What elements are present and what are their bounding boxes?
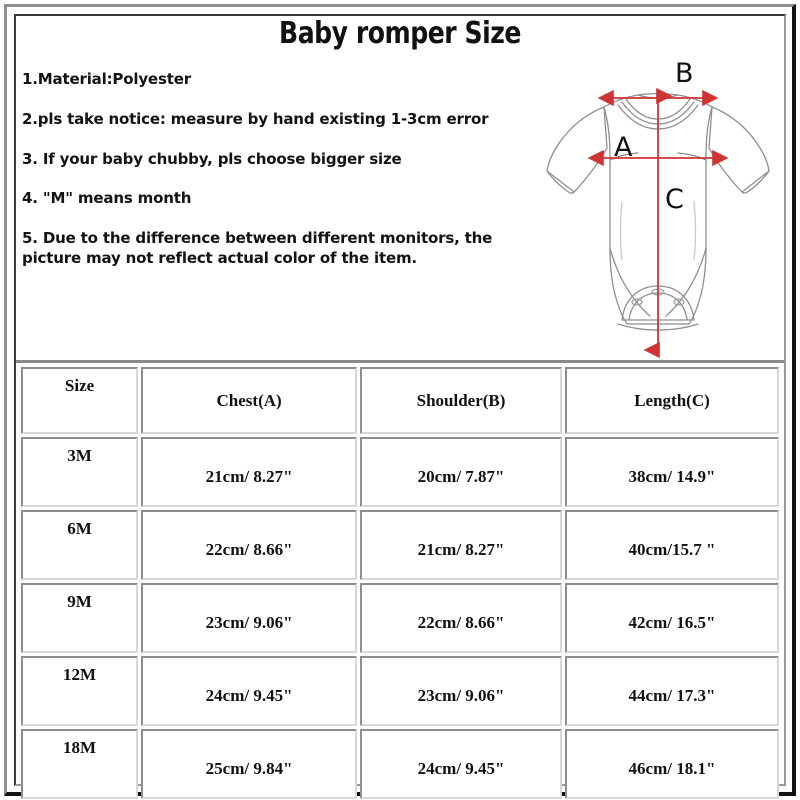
page-title: Baby romper Size	[28, 16, 772, 51]
cell-shoulder: 20cm/ 7.87"	[360, 437, 562, 507]
header-size: Size	[21, 367, 138, 434]
note-item-2: 2.pls take notice: measure by hand exist…	[22, 110, 507, 130]
cell-size: 9M	[21, 583, 138, 653]
header-chest: Chest(A)	[141, 367, 357, 434]
dimension-label-b: B	[675, 58, 694, 89]
note-item-3: 3. If your baby chubby, pls choose bigge…	[22, 150, 507, 170]
cell-chest: 22cm/ 8.66"	[141, 510, 357, 580]
cell-shoulder: 22cm/ 8.66"	[360, 583, 562, 653]
table-row: 12M 24cm/ 9.45" 23cm/ 9.06" 44cm/ 17.3"	[21, 656, 779, 726]
dimension-label-a: A	[614, 132, 632, 163]
table-row: 3M 21cm/ 8.27" 20cm/ 7.87" 38cm/ 14.9"	[21, 437, 779, 507]
cell-chest: 23cm/ 9.06"	[141, 583, 357, 653]
cell-shoulder: 23cm/ 9.06"	[360, 656, 562, 726]
table-header-row: Size Chest(A) Shoulder(B) Length(C)	[21, 367, 779, 434]
cell-shoulder: 21cm/ 8.27"	[360, 510, 562, 580]
cell-length: 42cm/ 16.5"	[565, 583, 779, 653]
dimension-label-c: C	[665, 184, 684, 215]
cell-shoulder: 24cm/ 9.45"	[360, 729, 562, 799]
cell-length: 46cm/ 18.1"	[565, 729, 779, 799]
cell-chest: 25cm/ 9.84"	[141, 729, 357, 799]
cell-size: 12M	[21, 656, 138, 726]
cell-chest: 21cm/ 8.27"	[141, 437, 357, 507]
table-row: 18M 25cm/ 9.84" 24cm/ 9.45" 46cm/ 18.1"	[21, 729, 779, 799]
left-leg-edge	[610, 248, 650, 316]
note-item-1: 1.Material:Polyester	[22, 70, 507, 90]
table-row: 9M 23cm/ 9.06" 22cm/ 8.66" 42cm/ 16.5"	[21, 583, 779, 653]
cell-length: 38cm/ 14.9"	[565, 437, 779, 507]
romper-diagram: A B C	[534, 52, 782, 360]
right-armhole-seam	[678, 153, 706, 160]
romper-illustration-svg	[534, 52, 782, 360]
left-sleeve	[547, 107, 607, 192]
left-body-fold	[621, 202, 623, 260]
table-top-divider	[16, 360, 784, 363]
table-row: 6M 22cm/ 8.66" 21cm/ 8.27" 40cm/15.7 "	[21, 510, 779, 580]
right-body-fold	[694, 202, 696, 260]
cell-chest: 24cm/ 9.45"	[141, 656, 357, 726]
cell-size: 18M	[21, 729, 138, 799]
header-shoulder: Shoulder(B)	[360, 367, 562, 434]
size-chart-page: Baby romper Size 1.Material:Polyester 2.…	[0, 0, 800, 800]
cell-length: 40cm/15.7 "	[565, 510, 779, 580]
cell-size: 3M	[21, 437, 138, 507]
cell-length: 44cm/ 17.3"	[565, 656, 779, 726]
header-length: Length(C)	[565, 367, 779, 434]
right-leg-edge	[666, 248, 706, 316]
right-sleeve	[709, 107, 769, 192]
notes-list: 1.Material:Polyester 2.pls take notice: …	[22, 70, 522, 269]
cell-size: 6M	[21, 510, 138, 580]
size-table: Size Chest(A) Shoulder(B) Length(C) 3M 2…	[18, 364, 782, 800]
note-item-4: 4. "M" means month	[22, 189, 507, 209]
note-item-5: 5. Due to the difference between differe…	[22, 229, 507, 269]
